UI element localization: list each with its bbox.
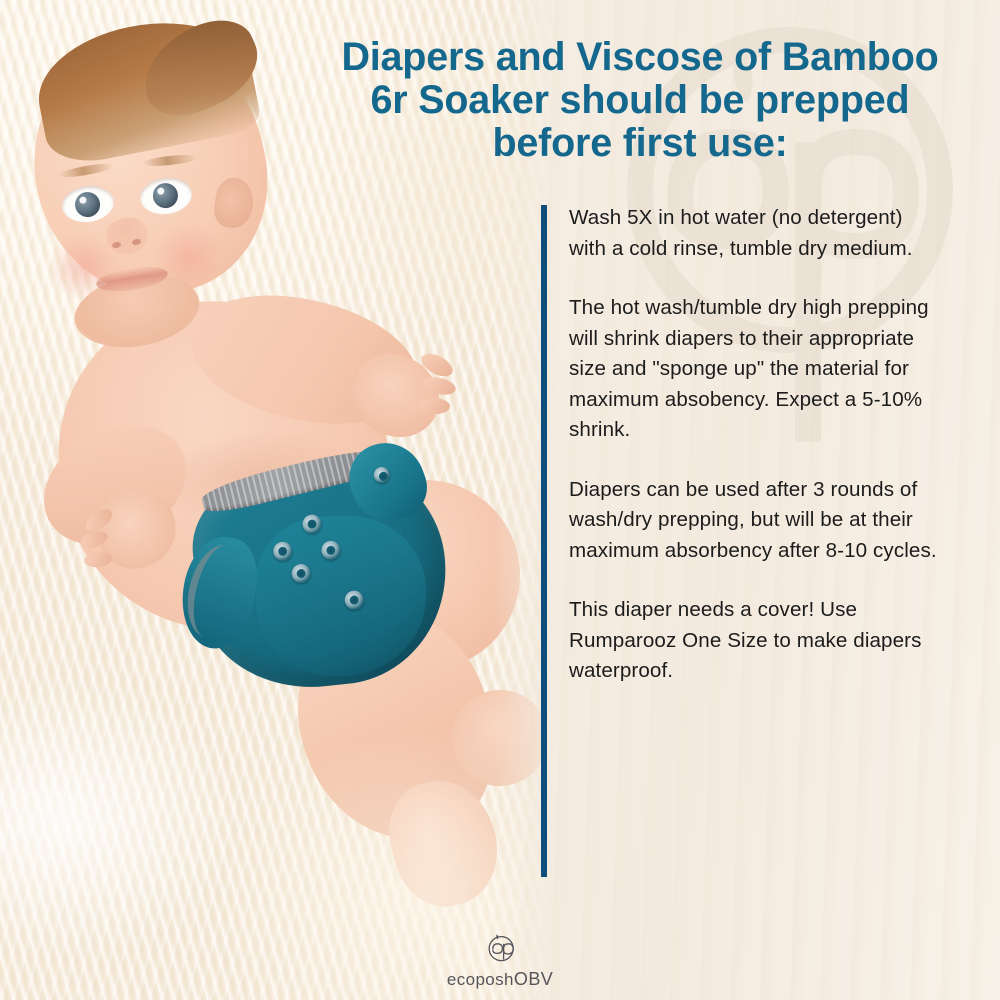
brand-logo: ecoposhOBV [0, 930, 1000, 990]
brand-name-obv: OBV [514, 969, 553, 989]
brand-name-eco: ecoposh [447, 970, 514, 989]
instruction-paragraph-4: This diaper needs a cover! Use Rumparooz… [569, 595, 943, 687]
page-title: Diapers and Viscose of Bamboo 6r Soaker … [300, 36, 980, 165]
brand-wordmark: ecoposhOBV [447, 969, 553, 990]
instructions-list: Wash 5X in hot water (no detergent) with… [569, 203, 943, 687]
title-line-3: before first use: [300, 122, 980, 165]
ep-monogram-icon [482, 930, 518, 966]
infographic-page: Diapers and Viscose of Bamboo 6r Soaker … [0, 0, 1000, 1000]
instruction-paragraph-3: Diapers can be used after 3 rounds of wa… [569, 475, 943, 567]
instruction-paragraph-2: The hot wash/tumble dry high prepping wi… [569, 293, 943, 446]
instruction-paragraph-1: Wash 5X in hot water (no detergent) with… [569, 203, 943, 264]
title-line-1: Diapers and Viscose of Bamboo [300, 36, 980, 79]
title-line-2: 6r Soaker should be prepped [300, 79, 980, 122]
vertical-accent-rule [541, 205, 547, 877]
